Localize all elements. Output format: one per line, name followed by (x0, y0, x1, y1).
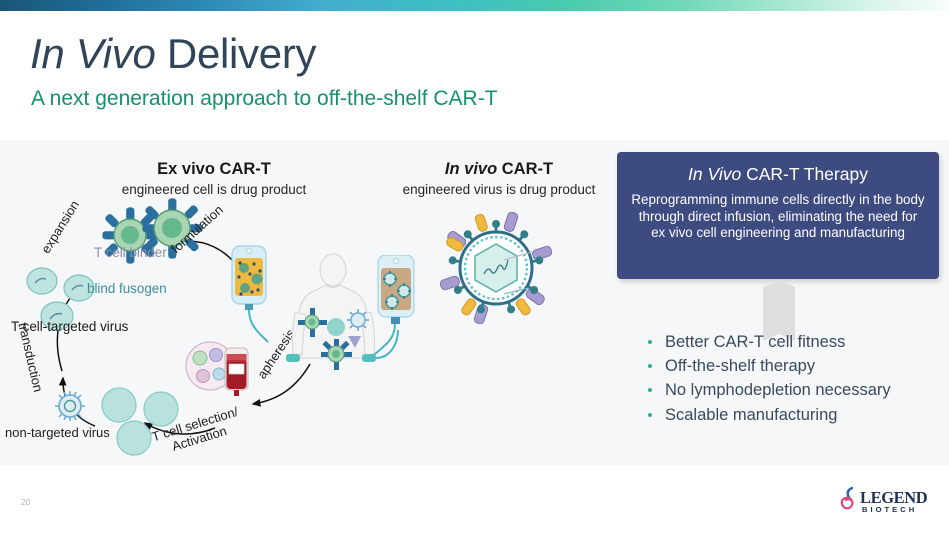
iv-bag-icon (232, 246, 268, 342)
callout-title-italic: In Vivo (688, 164, 741, 184)
product-iv-bag (372, 255, 427, 365)
in-vivo-heading-rest: CAR-T (497, 160, 553, 178)
blood-bag-icon (225, 348, 248, 396)
list-item: Better CAR-T cell fitness (646, 330, 946, 354)
label-blind-fusogen: blind fusogen (87, 281, 167, 296)
product-iv-bag-svg (372, 255, 427, 365)
bullet-dot-icon (648, 388, 652, 392)
callout-title: In Vivo CAR-T Therapy (630, 162, 926, 187)
label-t-cell-binder: T cell binder (94, 245, 167, 260)
benefits-list: Better CAR-T cell fitness Off-the-shelf … (646, 330, 946, 427)
human-body-icon (292, 254, 374, 358)
bullet-dot-icon (648, 413, 652, 417)
in-vivo-therapy-callout: In Vivo CAR-T Therapy Reprogramming immu… (617, 152, 939, 279)
legend-biotech-logo: LEGEND BIOTECH (838, 485, 938, 517)
benefit-label: Off-the-shelf therapy (665, 357, 815, 375)
slide-header: In Vivo Delivery A next generation appro… (0, 11, 949, 140)
page-subtitle: A next generation approach to off-the-sh… (31, 87, 498, 111)
page-title-rest: Delivery (156, 30, 317, 77)
callout-body: Reprogramming immune cells directly in t… (630, 192, 926, 242)
benefit-label: No lymphodepletion necessary (665, 381, 891, 399)
callout-title-rest: CAR-T Therapy (741, 164, 868, 184)
content-panel: Ex vivo CAR-T engineered cell is drug pr… (0, 140, 949, 465)
in-vivo-heading-italic: In vivo (445, 160, 497, 178)
benefit-label: Scalable manufacturing (665, 406, 837, 424)
label-non-targeted-virus: non-targeted virus (5, 425, 110, 440)
list-item: No lymphodepletion necessary (646, 378, 946, 402)
page-title-italic: In Vivo (30, 30, 156, 77)
virus-leader-lines (490, 240, 550, 350)
bullet-dot-icon (648, 364, 652, 368)
non-targeted-virus-icon (55, 391, 85, 421)
page-title: In Vivo Delivery (30, 30, 316, 78)
page-number: 20 (21, 497, 30, 507)
list-item: Scalable manufacturing (646, 403, 946, 427)
top-gradient-bar (0, 0, 949, 11)
logo-subtext: BIOTECH (862, 505, 917, 514)
in-vivo-heading: In vivo CAR-T (362, 158, 636, 180)
list-item: Off-the-shelf therapy (646, 354, 946, 378)
ex-vivo-heading: Ex vivo CAR-T (34, 158, 394, 180)
benefit-label: Better CAR-T cell fitness (665, 333, 845, 351)
label-t-cell-targeted-virus: T cell-targeted virus (11, 319, 128, 334)
legend-mark-icon (838, 486, 862, 514)
bullet-dot-icon (648, 340, 652, 344)
